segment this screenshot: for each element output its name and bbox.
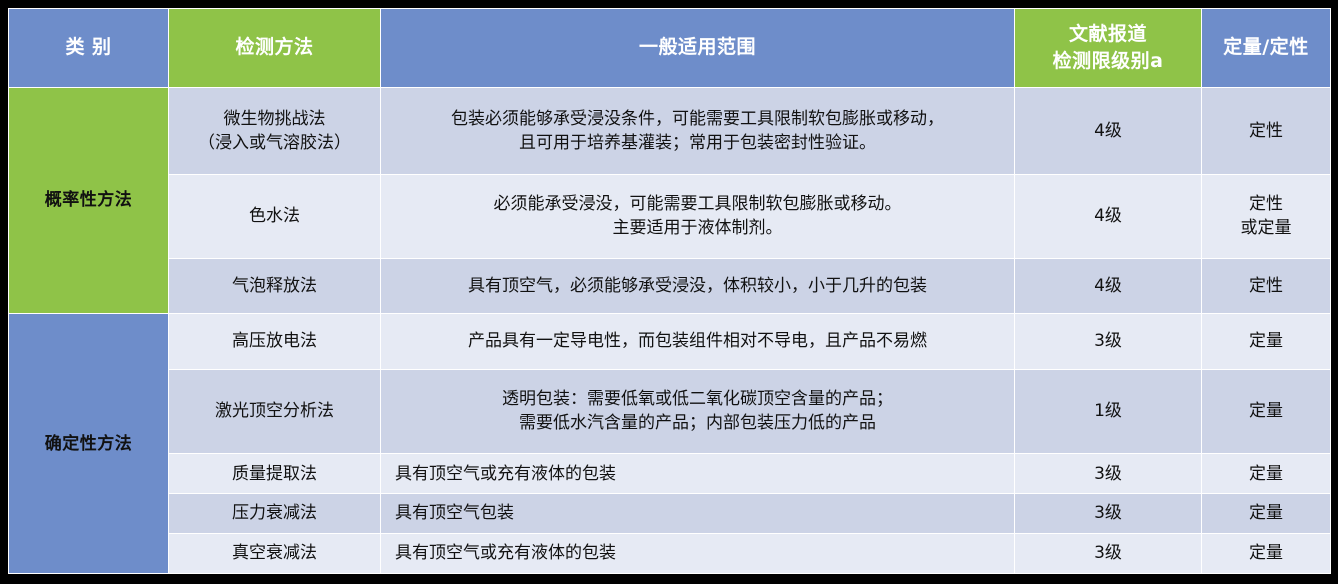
header-cell-applicable-range: 一般适用范围 <box>381 9 1015 88</box>
detection-limit-cell: 1级 <box>1015 369 1202 454</box>
quant-qual-line: 定量 <box>1208 329 1324 353</box>
range-cell: 必须能承受浸没，可能需要工具限制软包膨胀或移动。 主要适用于液体制剂。 <box>381 175 1015 259</box>
range-line: 需要低水汽含量的产品；内部包装压力低的产品 <box>387 411 1008 435</box>
header-cell-quant-qual: 定量/定性 <box>1202 9 1331 88</box>
category-cell-deterministic: 确定性方法 <box>9 314 169 574</box>
detection-limit-cell: 3级 <box>1015 533 1202 573</box>
header-cell-detection-limit: 文献报道 检测限级别a <box>1015 9 1202 88</box>
method-line: 质量提取法 <box>175 462 374 486</box>
method-line: 微生物挑战法 <box>175 107 374 131</box>
range-line: 具有顶空气或充有液体的包装 <box>395 462 1008 486</box>
method-cell: 微生物挑战法 （浸入或气溶胶法） <box>169 87 381 175</box>
table-row: 压力衰减法 具有顶空气包装 3级 定量 <box>9 494 1331 533</box>
quant-qual-cell: 定量 <box>1202 314 1331 369</box>
method-cell: 激光顶空分析法 <box>169 369 381 454</box>
table-row: 质量提取法 具有顶空气或充有液体的包装 3级 定量 <box>9 454 1331 494</box>
header-detection-limit-line2: 检测限级别a <box>1021 48 1195 75</box>
quant-qual-line: 定性 <box>1208 192 1324 216</box>
quant-qual-line: 定性 <box>1208 119 1324 143</box>
method-cell: 质量提取法 <box>169 454 381 494</box>
quant-qual-cell: 定量 <box>1202 533 1331 573</box>
range-line: 产品具有一定导电性，而包装组件相对不导电，且产品不易燃 <box>387 329 1008 353</box>
method-line: 高压放电法 <box>175 329 374 353</box>
method-cell: 真空衰减法 <box>169 533 381 573</box>
range-cell: 具有顶空气或充有液体的包装 <box>381 533 1015 573</box>
range-line: 包装必须能够承受浸没条件，可能需要工具限制软包膨胀或移动， <box>387 107 1008 131</box>
method-line: 气泡释放法 <box>175 274 374 298</box>
method-cell: 压力衰减法 <box>169 494 381 533</box>
method-cell: 高压放电法 <box>169 314 381 369</box>
method-cell: 气泡释放法 <box>169 258 381 313</box>
detection-limit-cell: 3级 <box>1015 314 1202 369</box>
quant-qual-line: 或定量 <box>1208 216 1324 240</box>
range-cell: 具有顶空气，必须能够承受浸没，体积较小，小于几升的包装 <box>381 258 1015 313</box>
table-header-row: 类 别 检测方法 一般适用范围 文献报道 检测限级别a 定量/定性 <box>9 9 1331 88</box>
range-line: 主要适用于液体制剂。 <box>387 216 1008 240</box>
range-line: 具有顶空气，必须能够承受浸没，体积较小，小于几升的包装 <box>387 274 1008 298</box>
detection-limit-cell: 4级 <box>1015 258 1202 313</box>
method-line: （浸入或气溶胶法） <box>175 131 374 155</box>
table-row: 真空衰减法 具有顶空气或充有液体的包装 3级 定量 <box>9 533 1331 573</box>
range-line: 具有顶空气或充有液体的包装 <box>395 541 1008 565</box>
range-cell: 具有顶空气包装 <box>381 494 1015 533</box>
method-line: 压力衰减法 <box>175 501 374 525</box>
quant-qual-cell: 定量 <box>1202 369 1331 454</box>
range-line: 具有顶空气包装 <box>395 501 1008 525</box>
quant-qual-cell: 定性 <box>1202 258 1331 313</box>
table-row: 概率性方法 微生物挑战法 （浸入或气溶胶法） 包装必须能够承受浸没条件，可能需要… <box>9 87 1331 175</box>
range-cell: 包装必须能够承受浸没条件，可能需要工具限制软包膨胀或移动， 且可用于培养基灌装；… <box>381 87 1015 175</box>
package-integrity-methods-table: 类 别 检测方法 一般适用范围 文献报道 检测限级别a 定量/定性 概率性方法 … <box>8 8 1331 574</box>
quant-qual-line: 定量 <box>1208 541 1324 565</box>
quant-qual-cell: 定量 <box>1202 494 1331 533</box>
quant-qual-cell: 定性 <box>1202 87 1331 175</box>
quant-qual-line: 定量 <box>1208 501 1324 525</box>
method-line: 色水法 <box>175 204 374 228</box>
detection-limit-cell: 3级 <box>1015 494 1202 533</box>
range-line: 且可用于培养基灌装；常用于包装密封性验证。 <box>387 131 1008 155</box>
detection-limit-cell: 4级 <box>1015 87 1202 175</box>
quant-qual-line: 定性 <box>1208 274 1324 298</box>
range-line: 必须能承受浸没，可能需要工具限制软包膨胀或移动。 <box>387 192 1008 216</box>
quant-qual-line: 定量 <box>1208 399 1324 423</box>
range-line: 透明包装：需要低氧或低二氧化碳顶空含量的产品； <box>387 387 1008 411</box>
table-row: 激光顶空分析法 透明包装：需要低氧或低二氧化碳顶空含量的产品； 需要低水汽含量的… <box>9 369 1331 454</box>
quant-qual-line: 定量 <box>1208 462 1324 486</box>
detection-limit-cell: 4级 <box>1015 175 1202 259</box>
method-line: 激光顶空分析法 <box>175 399 374 423</box>
header-cell-method: 检测方法 <box>169 9 381 88</box>
table-row: 色水法 必须能承受浸没，可能需要工具限制软包膨胀或移动。 主要适用于液体制剂。 … <box>9 175 1331 259</box>
method-line: 真空衰减法 <box>175 541 374 565</box>
table-container: 类 别 检测方法 一般适用范围 文献报道 检测限级别a 定量/定性 概率性方法 … <box>8 8 1330 574</box>
quant-qual-cell: 定量 <box>1202 454 1331 494</box>
quant-qual-cell: 定性 或定量 <box>1202 175 1331 259</box>
category-cell-probabilistic: 概率性方法 <box>9 87 169 314</box>
header-detection-limit-line1: 文献报道 <box>1021 21 1195 48</box>
method-cell: 色水法 <box>169 175 381 259</box>
range-cell: 产品具有一定导电性，而包装组件相对不导电，且产品不易燃 <box>381 314 1015 369</box>
range-cell: 透明包装：需要低氧或低二氧化碳顶空含量的产品； 需要低水汽含量的产品；内部包装压… <box>381 369 1015 454</box>
detection-limit-cell: 3级 <box>1015 454 1202 494</box>
table-row: 气泡释放法 具有顶空气，必须能够承受浸没，体积较小，小于几升的包装 4级 定性 <box>9 258 1331 313</box>
range-cell: 具有顶空气或充有液体的包装 <box>381 454 1015 494</box>
table-row: 确定性方法 高压放电法 产品具有一定导电性，而包装组件相对不导电，且产品不易燃 … <box>9 314 1331 369</box>
screenshot-frame: 类 别 检测方法 一般适用范围 文献报道 检测限级别a 定量/定性 概率性方法 … <box>0 0 1338 584</box>
header-cell-category: 类 别 <box>9 9 169 88</box>
